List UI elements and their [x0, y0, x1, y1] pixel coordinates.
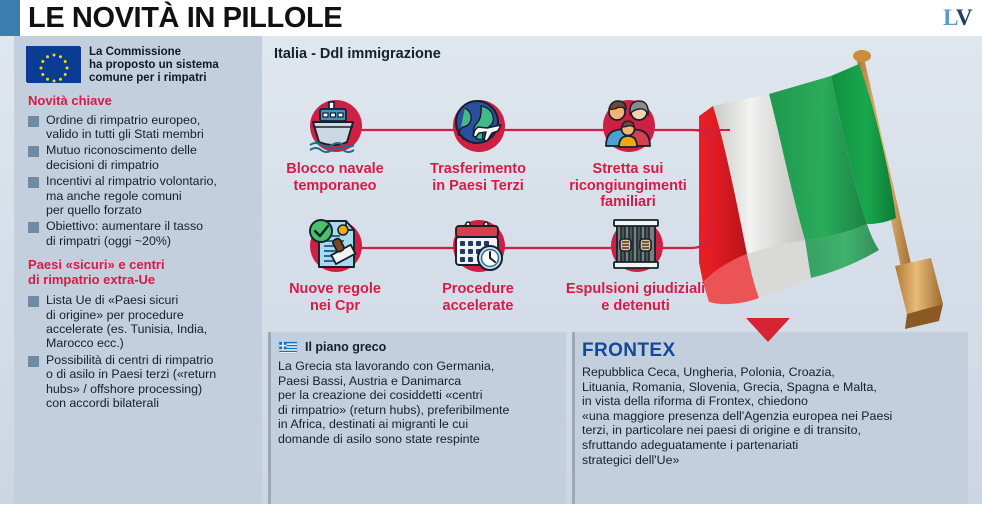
- eu-intro-text: La Commissione ha proposto un sistema co…: [89, 46, 219, 86]
- content-canvas: La Commissione ha proposto un sistema co…: [0, 36, 982, 510]
- frontex-logo: FRONTEX: [582, 340, 958, 362]
- header-bar: LE NOVITÀ IN PILLOLE LV: [0, 0, 982, 36]
- list-item: Lista Ue di «Paesi sicuri di origine» pe…: [26, 293, 250, 351]
- flow-node-ricongiungimenti[interactable]: Stretta sui ricongiungimenti familiari: [553, 92, 703, 211]
- sidebar-section-title-paesi-sicuri: Paesi «sicuri» e centri di rimpatrio ext…: [28, 257, 250, 287]
- prison-bars-icon-svg: [603, 212, 669, 278]
- flow-node-label: Espulsioni giudiziali e detenuti: [548, 281, 723, 314]
- eu-intro-line-2: ha proposto un sistema: [89, 59, 219, 72]
- frontex-panel: FRONTEX Repubblica Ceca, Ungheria, Polon…: [572, 332, 968, 506]
- footer-strip: [0, 504, 982, 510]
- flow-node-label: Nuove regole nei Cpr: [260, 281, 410, 314]
- greek-panel-title: Il piano greco: [305, 340, 386, 354]
- main-flow-panel: Italia - Ddl immigrazione: [268, 40, 968, 328]
- list-item: Obiettivo: aumentare il tasso di rimpatr…: [26, 219, 250, 248]
- logo-letter-l: L: [943, 5, 956, 30]
- globe-plane-icon-svg: [445, 92, 511, 158]
- eu-intro-line-1: La Commissione: [89, 46, 219, 59]
- flow-node-label: Stretta sui ricongiungimenti familiari: [553, 161, 703, 211]
- flow-node-nuove-regole[interactable]: Nuove regole nei Cpr: [260, 212, 410, 314]
- ship-icon-svg: [302, 92, 368, 158]
- eu-flag-svg: [27, 47, 81, 83]
- family-icon: [595, 92, 661, 158]
- flow-node-label: Trasferimento in Paesi Terzi: [403, 161, 553, 194]
- document-stamp-icon: [302, 212, 368, 278]
- sidebar-section-title-novita: Novità chiave: [28, 93, 250, 108]
- flow-node-trasferimento[interactable]: Trasferimento in Paesi Terzi: [403, 92, 553, 194]
- header-accent-block: [0, 0, 20, 36]
- flow-node-blocco-navale[interactable]: Blocco navale temporaneo: [260, 92, 410, 194]
- eu-intro-line-3: comune per i rimpatri: [89, 72, 219, 85]
- document-stamp-icon-svg: [302, 212, 368, 278]
- list-item: Mutuo riconoscimento delle decisioni di …: [26, 143, 250, 172]
- list-item: Ordine di rimpatrio europeo, valido in t…: [26, 113, 250, 142]
- eu-intro-row: La Commissione ha proposto un sistema co…: [26, 46, 250, 86]
- family-icon-svg: [595, 92, 661, 158]
- flow-node-espulsioni[interactable]: Espulsioni giudiziali e detenuti: [548, 212, 723, 314]
- infographic-root: LE NOVITÀ IN PILLOLE LV: [0, 0, 982, 510]
- panel-left-rule: [268, 332, 271, 506]
- prison-bars-icon: [603, 212, 669, 278]
- frontex-panel-body: Repubblica Ceca, Ungheria, Polonia, Croa…: [582, 365, 958, 467]
- page-title: LE NOVITÀ IN PILLOLE: [28, 1, 342, 35]
- frontex-logo-text: FRONTEX: [582, 340, 676, 361]
- flow-node-label: Procedure accelerate: [403, 281, 553, 314]
- greek-flag-svg: [279, 342, 298, 354]
- calendar-clock-icon-svg: [445, 212, 511, 278]
- ship-icon: [302, 92, 368, 158]
- greek-panel-body: La Grecia sta lavorando con Germania, Pa…: [278, 359, 556, 447]
- greek-flag-icon: [278, 341, 298, 354]
- panel-left-rule: [572, 332, 575, 506]
- flow-node-label: Blocco navale temporaneo: [260, 161, 410, 194]
- list-item: Incentivi al rimpatrio volontario, ma an…: [26, 174, 250, 217]
- greek-panel-header: Il piano greco: [278, 340, 556, 354]
- sidebar-bullet-list-novita: Ordine di rimpatrio europeo, valido in t…: [26, 113, 250, 249]
- sidebar-bullet-list-paesi-sicuri: Lista Ue di «Paesi sicuri di origine» pe…: [26, 293, 250, 410]
- flow-node-procedure-accelerate[interactable]: Procedure accelerate: [403, 212, 553, 314]
- red-arrow-marker: [746, 318, 790, 342]
- globe-plane-icon: [445, 92, 511, 158]
- lv-logo: LV: [943, 5, 972, 31]
- calendar-clock-icon: [445, 212, 511, 278]
- logo-letter-v: V: [956, 5, 972, 30]
- greek-plan-panel: Il piano greco La Grecia sta lavorando c…: [268, 332, 566, 506]
- sidebar-panel: La Commissione ha proposto un sistema co…: [14, 36, 262, 506]
- list-item: Possibilità di centri di rimpatrio o di …: [26, 353, 250, 411]
- eu-flag-icon: [26, 46, 80, 82]
